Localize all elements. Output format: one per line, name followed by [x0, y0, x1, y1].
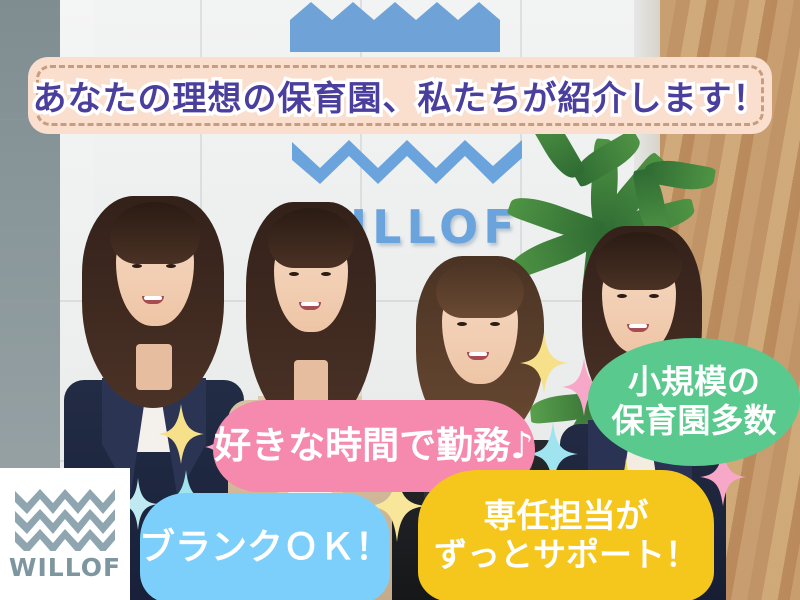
sparkle-yellow-icon — [158, 404, 204, 464]
person-4-eye — [649, 294, 659, 298]
zigzag-logo-icon — [15, 489, 115, 551]
bubble-green-line-2: 保育園多数 — [612, 402, 777, 441]
bubble-blue-line-1: ブランクＯＫ！ — [139, 527, 391, 569]
bubble-green-line-1: 小規模の — [628, 363, 760, 402]
poster-canvas: WILLOF — [0, 0, 800, 600]
person-2-neck — [294, 360, 328, 404]
person-4-eye — [617, 294, 627, 298]
person-2-eye — [321, 272, 331, 276]
bubble-green: 小規模の 保育園多数 — [588, 338, 800, 466]
person-2-eye — [289, 272, 299, 276]
person-3-eye — [457, 322, 467, 326]
brand-logo-text: WILLOF — [9, 555, 121, 580]
bubble-yellow: 専任担当が ずっとサポート！ — [418, 470, 714, 600]
sparkle-yellow-icon — [520, 332, 568, 394]
zigzag-decor-top — [290, 0, 500, 54]
person-4-hair — [596, 232, 682, 290]
person-3-hair — [436, 260, 524, 318]
person-2-hair — [268, 208, 354, 268]
person-1-eye — [166, 264, 176, 268]
person-3-eye — [490, 322, 500, 326]
person-1-eye — [132, 264, 142, 268]
brand-logo: WILLOF — [0, 468, 130, 600]
bubble-blue: ブランクＯＫ！ — [140, 493, 390, 600]
headline-banner: あなたの理想の保育園、私たちが紹介します！ — [28, 57, 772, 134]
bubble-yellow-line-2: ずっとサポート！ — [434, 536, 698, 575]
bubble-yellow-line-1: 専任担当が — [484, 497, 649, 536]
person-1-hair — [110, 202, 200, 264]
person-1-neck — [136, 344, 172, 390]
headline-text: あなたの理想の保育園、私たちが紹介します！ — [33, 71, 768, 120]
bubble-pink-line-1: 好きな時間で勤務♪ — [214, 424, 534, 468]
